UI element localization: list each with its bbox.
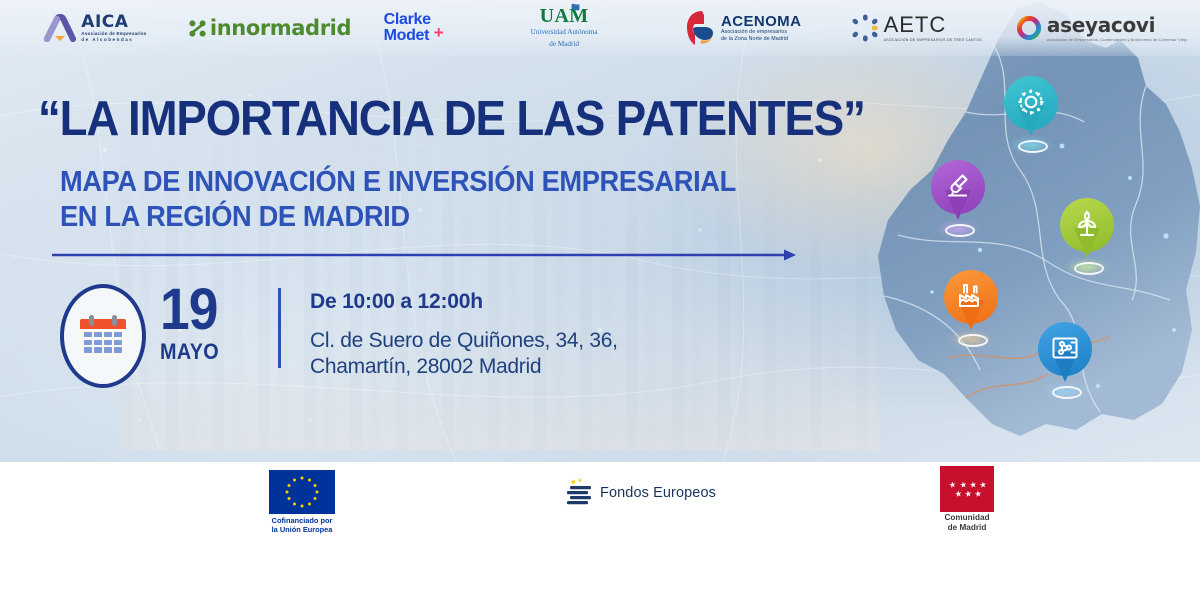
eu-caption-line2: la Unión Europea bbox=[252, 525, 352, 534]
madrid-stars-icon bbox=[940, 466, 994, 512]
madrid-region-map bbox=[870, 0, 1200, 462]
clarke-line1: Clarke bbox=[384, 12, 431, 28]
comunidad-de-madrid-caption: Comunidad de Madrid bbox=[930, 513, 1004, 534]
european-union-flag bbox=[269, 470, 335, 514]
event-time: De 10:00 a 12:00h bbox=[310, 290, 483, 314]
logo-innormadrid[interactable]: innormadrid bbox=[189, 0, 351, 56]
map-silhouette bbox=[870, 0, 1200, 462]
fondos-europeos-logo: Fondos Europeos bbox=[567, 478, 716, 508]
page-title: “LA IMPORTANCIA DE LAS PATENTES” bbox=[38, 95, 865, 144]
pin-halo bbox=[1052, 386, 1082, 399]
logo-aetc[interactable]: AETC ASOCIACIÓN DE EMPRESARIOS DE TRES C… bbox=[829, 0, 1003, 56]
uam-sub1: Universidad Autónoma bbox=[531, 28, 598, 38]
network-document-icon bbox=[1049, 332, 1081, 364]
network-pin[interactable] bbox=[1038, 322, 1092, 392]
aetc-sub: ASOCIACIÓN DE EMPRESARIOS DE TRES CANTOS bbox=[884, 38, 982, 42]
partner-logo-bar: AICA Asociación de Empresarios de Alcobe… bbox=[0, 0, 1200, 56]
acenoma-wordmark: ACENOMA bbox=[721, 14, 801, 29]
pin-halo bbox=[958, 334, 988, 347]
event-address: Cl. de Suero de Quiñones, 34, 36, Chamar… bbox=[310, 328, 618, 381]
logo-acenoma[interactable]: ACENOMA Asociación de empresarios de la … bbox=[652, 0, 829, 56]
logo-clarke-modet[interactable]: Clarke Modet + bbox=[351, 0, 476, 56]
factory-pin[interactable] bbox=[944, 270, 998, 340]
aetc-wordmark: AETC bbox=[884, 14, 982, 36]
aseyacovi-sub: Asociación de Empresarios, Comerciantes … bbox=[1047, 37, 1187, 42]
event-address-line1: Cl. de Suero de Quiñones, 34, 36, bbox=[310, 328, 618, 354]
factory-icon bbox=[955, 280, 987, 312]
cm-caption-line2: de Madrid bbox=[930, 523, 1004, 533]
footer-logos: Cofinanciado por la Unión Europea bbox=[0, 462, 1200, 530]
event-poster: AICA Asociación de Empresarios de Alcobe… bbox=[0, 0, 1200, 600]
eu-flag-caption: Cofinanciado por la Unión Europea bbox=[252, 516, 352, 535]
arrow-right-icon bbox=[52, 248, 797, 262]
aseyacovi-mark-icon bbox=[1016, 15, 1042, 41]
gear-icon bbox=[1015, 86, 1047, 118]
logo-uam[interactable]: UAM Universidad Autónoma de Madrid bbox=[476, 0, 652, 56]
page-subtitle: MAPA DE INNOVACIÓN E INVERSIÓN EMPRESARI… bbox=[60, 165, 736, 236]
hero-background: AICA Asociación de Empresarios de Alcobe… bbox=[0, 0, 1200, 462]
footer: Cofinanciado por la Unión Europea bbox=[0, 462, 1200, 600]
logo-aica[interactable]: AICA Asociación de Empresarios de Alcobe… bbox=[0, 0, 189, 56]
uam-flag-icon bbox=[570, 3, 581, 14]
aica-wordmark: AICA bbox=[81, 14, 146, 31]
comunidad-de-madrid-flag bbox=[940, 466, 994, 512]
fondos-europeos-mark-icon bbox=[567, 478, 593, 508]
microscope-pin[interactable] bbox=[931, 160, 985, 230]
arrow-divider bbox=[52, 248, 797, 262]
acenoma-sub2: de la Zona Norte de Madrid bbox=[721, 36, 801, 43]
plant-icon bbox=[1071, 208, 1103, 240]
clarke-line2: Modet bbox=[384, 28, 431, 44]
eu-stars-icon bbox=[269, 470, 335, 514]
eu-caption-line1: Cofinanciado por bbox=[252, 516, 352, 525]
pin-halo bbox=[1074, 262, 1104, 275]
gear-pin[interactable] bbox=[1004, 76, 1058, 146]
page-subtitle-line1: MAPA DE INNOVACIÓN E INVERSIÓN EMPRESARI… bbox=[60, 165, 736, 200]
event-address-line2: Chamartín, 28002 Madrid bbox=[310, 354, 618, 380]
pin-halo bbox=[945, 224, 975, 237]
vertical-divider bbox=[278, 288, 281, 368]
acenoma-sub1: Asociación de empresarios bbox=[721, 29, 801, 36]
cm-caption-line1: Comunidad bbox=[930, 513, 1004, 523]
page-subtitle-line2: EN LA REGIÓN DE MADRID bbox=[60, 200, 736, 235]
logo-aseyacovi[interactable]: aseyacovi Asociación de Empresarios, Com… bbox=[1003, 0, 1200, 56]
aica-sub1: Asociación de Empresarios bbox=[81, 31, 146, 37]
fondos-europeos-text: Fondos Europeos bbox=[600, 485, 716, 501]
aetc-mark-icon bbox=[851, 14, 879, 42]
innormadrid-wordmark: innormadrid bbox=[210, 18, 351, 39]
aica-sub2: de Alcobendas bbox=[81, 37, 146, 43]
event-month: MAYO bbox=[160, 341, 219, 363]
uam-sub2: de Madrid bbox=[531, 40, 598, 50]
calendar-icon bbox=[60, 284, 146, 388]
aica-mark-icon bbox=[42, 14, 76, 42]
microscope-icon bbox=[942, 170, 974, 202]
plant-pin[interactable] bbox=[1060, 198, 1114, 268]
uam-wordmark: UAM bbox=[540, 6, 589, 26]
acenoma-mark-icon bbox=[680, 8, 716, 48]
event-day: 19 bbox=[160, 283, 218, 336]
innormadrid-mark-icon bbox=[189, 20, 206, 37]
pin-halo bbox=[1018, 140, 1048, 153]
aseyacovi-wordmark: aseyacovi bbox=[1047, 15, 1187, 35]
clarke-plus-icon: + bbox=[434, 24, 444, 41]
